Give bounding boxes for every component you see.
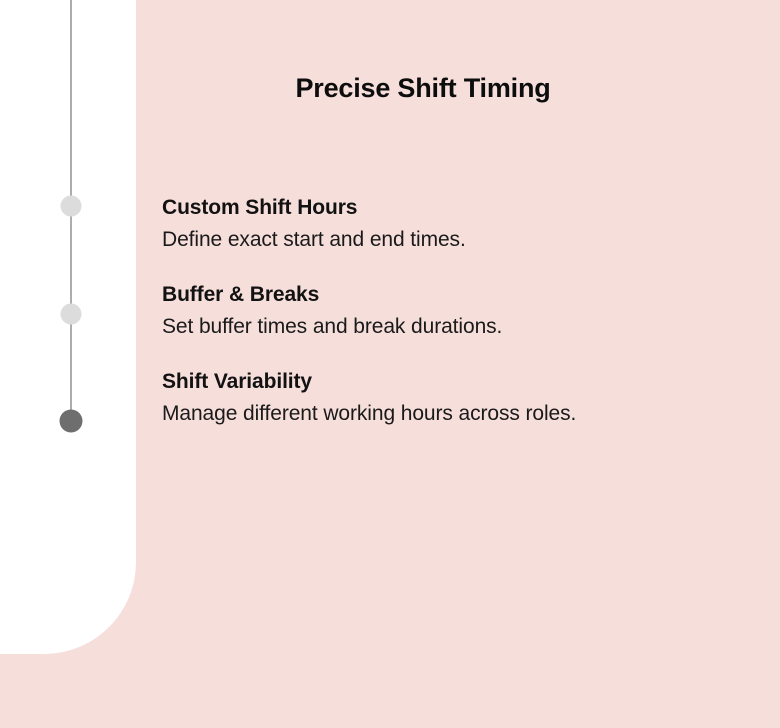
sidebar-white-card: [0, 0, 136, 654]
feature-description-buffer-and-breaks: Set buffer times and break durations.: [162, 311, 762, 343]
timeline-dot-step-3[interactable]: [60, 410, 83, 433]
feature-list: Custom Shift Hours Define exact start an…: [162, 193, 762, 430]
page-title: Precise Shift Timing: [136, 72, 710, 104]
feature-title-custom-shift-hours: Custom Shift Hours: [162, 193, 762, 223]
timeline-dot-step-1[interactable]: [61, 196, 82, 217]
list-item: Buffer & Breaks Set buffer times and bre…: [162, 280, 762, 343]
screen-root: Precise Shift Timing Custom Shift Hours …: [0, 0, 780, 728]
list-item: Custom Shift Hours Define exact start an…: [162, 193, 762, 256]
feature-description-shift-variability: Manage different working hours across ro…: [162, 398, 762, 430]
feature-panel-content: Precise Shift Timing Custom Shift Hours …: [136, 0, 780, 728]
feature-title-buffer-and-breaks: Buffer & Breaks: [162, 280, 762, 310]
feature-title-shift-variability: Shift Variability: [162, 367, 762, 397]
list-item: Shift Variability Manage different worki…: [162, 367, 762, 430]
feature-description-custom-shift-hours: Define exact start and end times.: [162, 224, 762, 256]
timeline-dot-step-2[interactable]: [61, 304, 82, 325]
